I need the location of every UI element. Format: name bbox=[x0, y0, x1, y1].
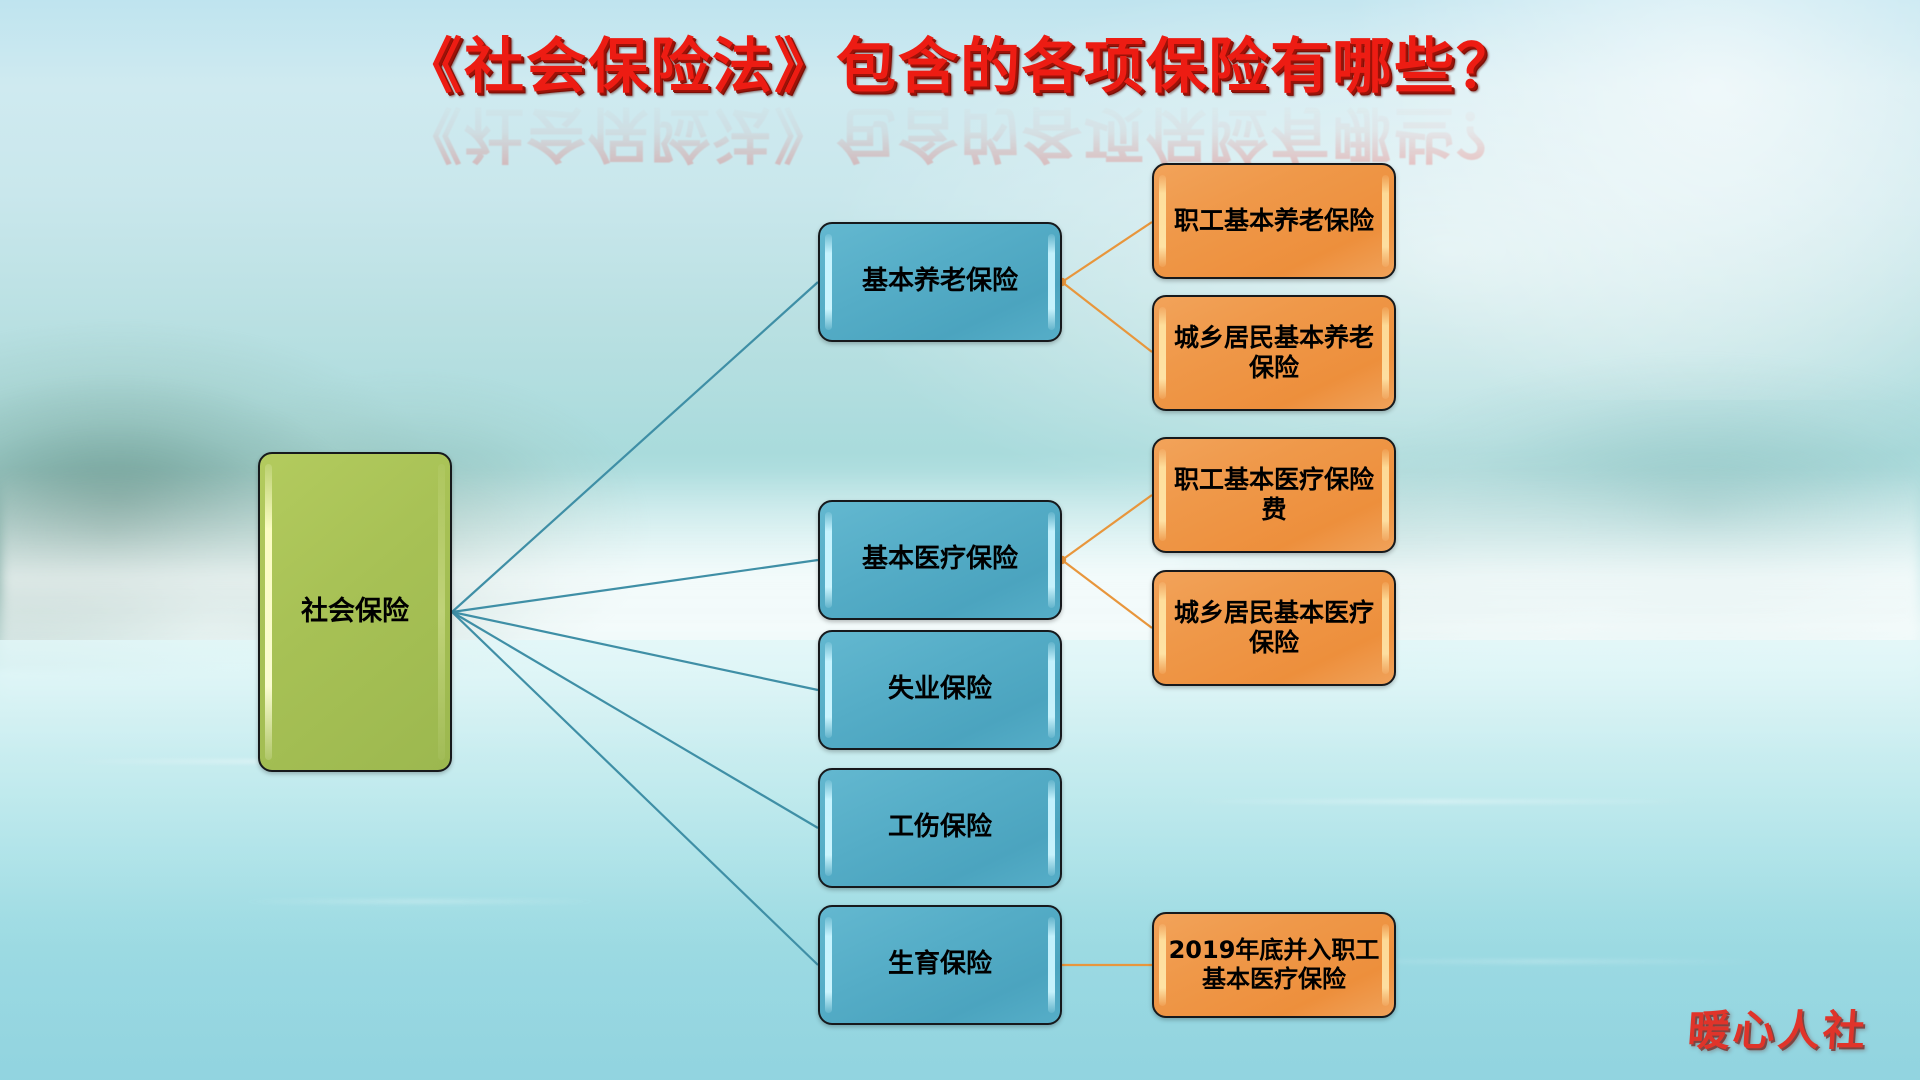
link-pension-resident bbox=[1062, 282, 1152, 352]
bevel-highlight-left bbox=[825, 642, 832, 738]
node-label: 社会保险 bbox=[291, 596, 419, 629]
node-category-basic-medical[interactable]: 基本医疗保险 bbox=[818, 500, 1062, 620]
bevel-highlight-right bbox=[1048, 234, 1055, 330]
link-root-maternity bbox=[452, 612, 818, 965]
bevel-highlight-left bbox=[265, 464, 272, 760]
bevel-highlight-right bbox=[1048, 512, 1055, 608]
bevel-highlight-right bbox=[1048, 780, 1055, 876]
node-label: 基本养老保险 bbox=[852, 266, 1028, 298]
node-category-work-injury[interactable]: 工伤保险 bbox=[818, 768, 1062, 888]
node-label: 2019年底并入职工基本医疗保险 bbox=[1154, 936, 1394, 995]
node-leaf-maternity-merged-note[interactable]: 2019年底并入职工基本医疗保险 bbox=[1152, 912, 1396, 1018]
node-label: 基本医疗保险 bbox=[852, 544, 1028, 576]
node-category-basic-pension[interactable]: 基本养老保险 bbox=[818, 222, 1062, 342]
bevel-highlight-left bbox=[825, 512, 832, 608]
node-label: 工伤保险 bbox=[878, 812, 1002, 844]
bevel-highlight-right bbox=[438, 464, 445, 760]
node-category-maternity[interactable]: 生育保险 bbox=[818, 905, 1062, 1025]
node-label: 职工基本养老保险 bbox=[1164, 206, 1384, 237]
link-medical-employee bbox=[1062, 495, 1152, 560]
node-label: 失业保险 bbox=[878, 674, 1002, 706]
bevel-highlight-left bbox=[825, 780, 832, 876]
node-root-social-insurance[interactable]: 社会保险 bbox=[258, 452, 452, 772]
slide-canvas: 《社会保险法》包含的各项保险有哪些？ 《社会保险法》包含的各项保险有哪些？ bbox=[0, 0, 1920, 1080]
link-root-pension bbox=[452, 282, 818, 612]
link-medical-resident bbox=[1062, 560, 1152, 628]
watermark-logo: 暖心人社 bbox=[1686, 997, 1870, 1058]
bevel-highlight-right bbox=[1048, 642, 1055, 738]
link-root-medical bbox=[452, 560, 818, 612]
node-label: 城乡居民基本医疗保险 bbox=[1154, 598, 1394, 659]
node-leaf-employee-pension[interactable]: 职工基本养老保险 bbox=[1152, 163, 1396, 279]
link-root-injury bbox=[452, 612, 818, 828]
bevel-highlight-left bbox=[825, 917, 832, 1013]
node-label: 生育保险 bbox=[878, 949, 1002, 981]
node-label: 职工基本医疗保险费 bbox=[1154, 465, 1394, 526]
node-label: 城乡居民基本养老保险 bbox=[1154, 323, 1394, 384]
node-leaf-employee-medical[interactable]: 职工基本医疗保险费 bbox=[1152, 437, 1396, 553]
node-category-unemployment[interactable]: 失业保险 bbox=[818, 630, 1062, 750]
bevel-highlight-right bbox=[1048, 917, 1055, 1013]
link-root-unemployment bbox=[452, 612, 818, 690]
node-leaf-resident-medical[interactable]: 城乡居民基本医疗保险 bbox=[1152, 570, 1396, 686]
bevel-highlight-left bbox=[825, 234, 832, 330]
node-leaf-resident-pension[interactable]: 城乡居民基本养老保险 bbox=[1152, 295, 1396, 411]
link-pension-employee bbox=[1062, 222, 1152, 282]
